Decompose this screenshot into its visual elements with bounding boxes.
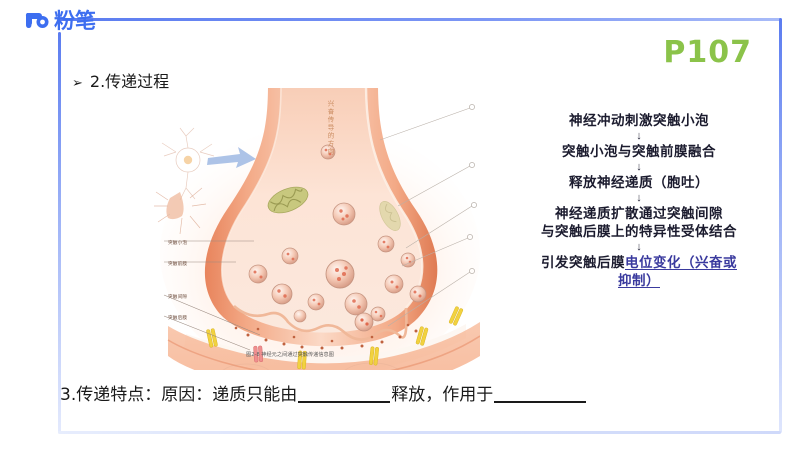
diagram-label-presynaptic-membrane: 突触前膜 <box>168 261 187 267</box>
fill-in-blank-line: 3.传递特点：原因：递质只能由释放，作用于 <box>60 380 587 405</box>
synapse-diagram <box>150 88 480 370</box>
frame-border-left <box>58 32 61 433</box>
flow-step-5-line-1: 引发突触后膜电位变化（兴奋或 <box>500 254 778 272</box>
flow-step-4-line-2: 与突触后膜上的特异性受体结合 <box>500 223 778 241</box>
bullet-arrow-icon: ➢ <box>72 76 83 91</box>
flow-step-5-highlight: 电位变化（兴奋或 <box>625 255 737 271</box>
brand-logo-text: 粉笔 <box>54 10 96 32</box>
diagram-caption: 图2-8 神经元之间通过突触传递信息图 <box>246 351 334 358</box>
flow-step-5-line-2: 抑制） <box>500 272 778 290</box>
flow-step-3: 释放神经递质（胞吐） <box>500 174 778 192</box>
slide-canvas: 粉笔 P107 ➢ 2.传递过程 <box>0 0 800 450</box>
flow-arrow-1: ↓ <box>500 130 778 143</box>
brand-logo: 粉笔 <box>24 10 96 32</box>
diagram-direction-label: 兴奋传导的方向 <box>325 100 335 156</box>
fill-in-blank-prefix: 3.传递特点：原因：递质只能由 <box>60 385 297 405</box>
flow-step-4-line-1: 神经递质扩散通过突触间隙 <box>500 205 778 223</box>
blank-field-2[interactable] <box>494 384 586 403</box>
flow-arrow-4: ↓ <box>500 241 778 254</box>
flow-arrow-3: ↓ <box>500 192 778 205</box>
blank-field-1[interactable] <box>298 384 390 403</box>
diagram-label-postsynaptic-membrane: 突触后膜 <box>168 315 187 321</box>
diagram-label-synaptic-vesicle: 突触小泡 <box>168 240 187 246</box>
fb-logo-icon <box>24 10 50 32</box>
flow-step-1: 神经冲动刺激突触小泡 <box>500 112 778 130</box>
flow-step-2: 突触小泡与突触前膜融合 <box>500 143 778 161</box>
fill-in-blank-middle: 释放，作用于 <box>391 385 493 405</box>
flow-arrow-2: ↓ <box>500 161 778 174</box>
frame-border-bottom <box>58 431 781 434</box>
diagram-label-synaptic-cleft: 突触间隙 <box>168 294 187 300</box>
process-flow-chart: 神经冲动刺激突触小泡 ↓ 突触小泡与突触前膜融合 ↓ 释放神经递质（胞吐） ↓ … <box>500 112 778 290</box>
flow-step-5-plain: 引发突触后膜 <box>541 255 625 271</box>
frame-border-top <box>58 18 781 21</box>
frame-border-right <box>779 18 782 433</box>
page-number: P107 <box>663 35 752 70</box>
flow-step-5-highlight-2: 抑制） <box>618 273 660 289</box>
